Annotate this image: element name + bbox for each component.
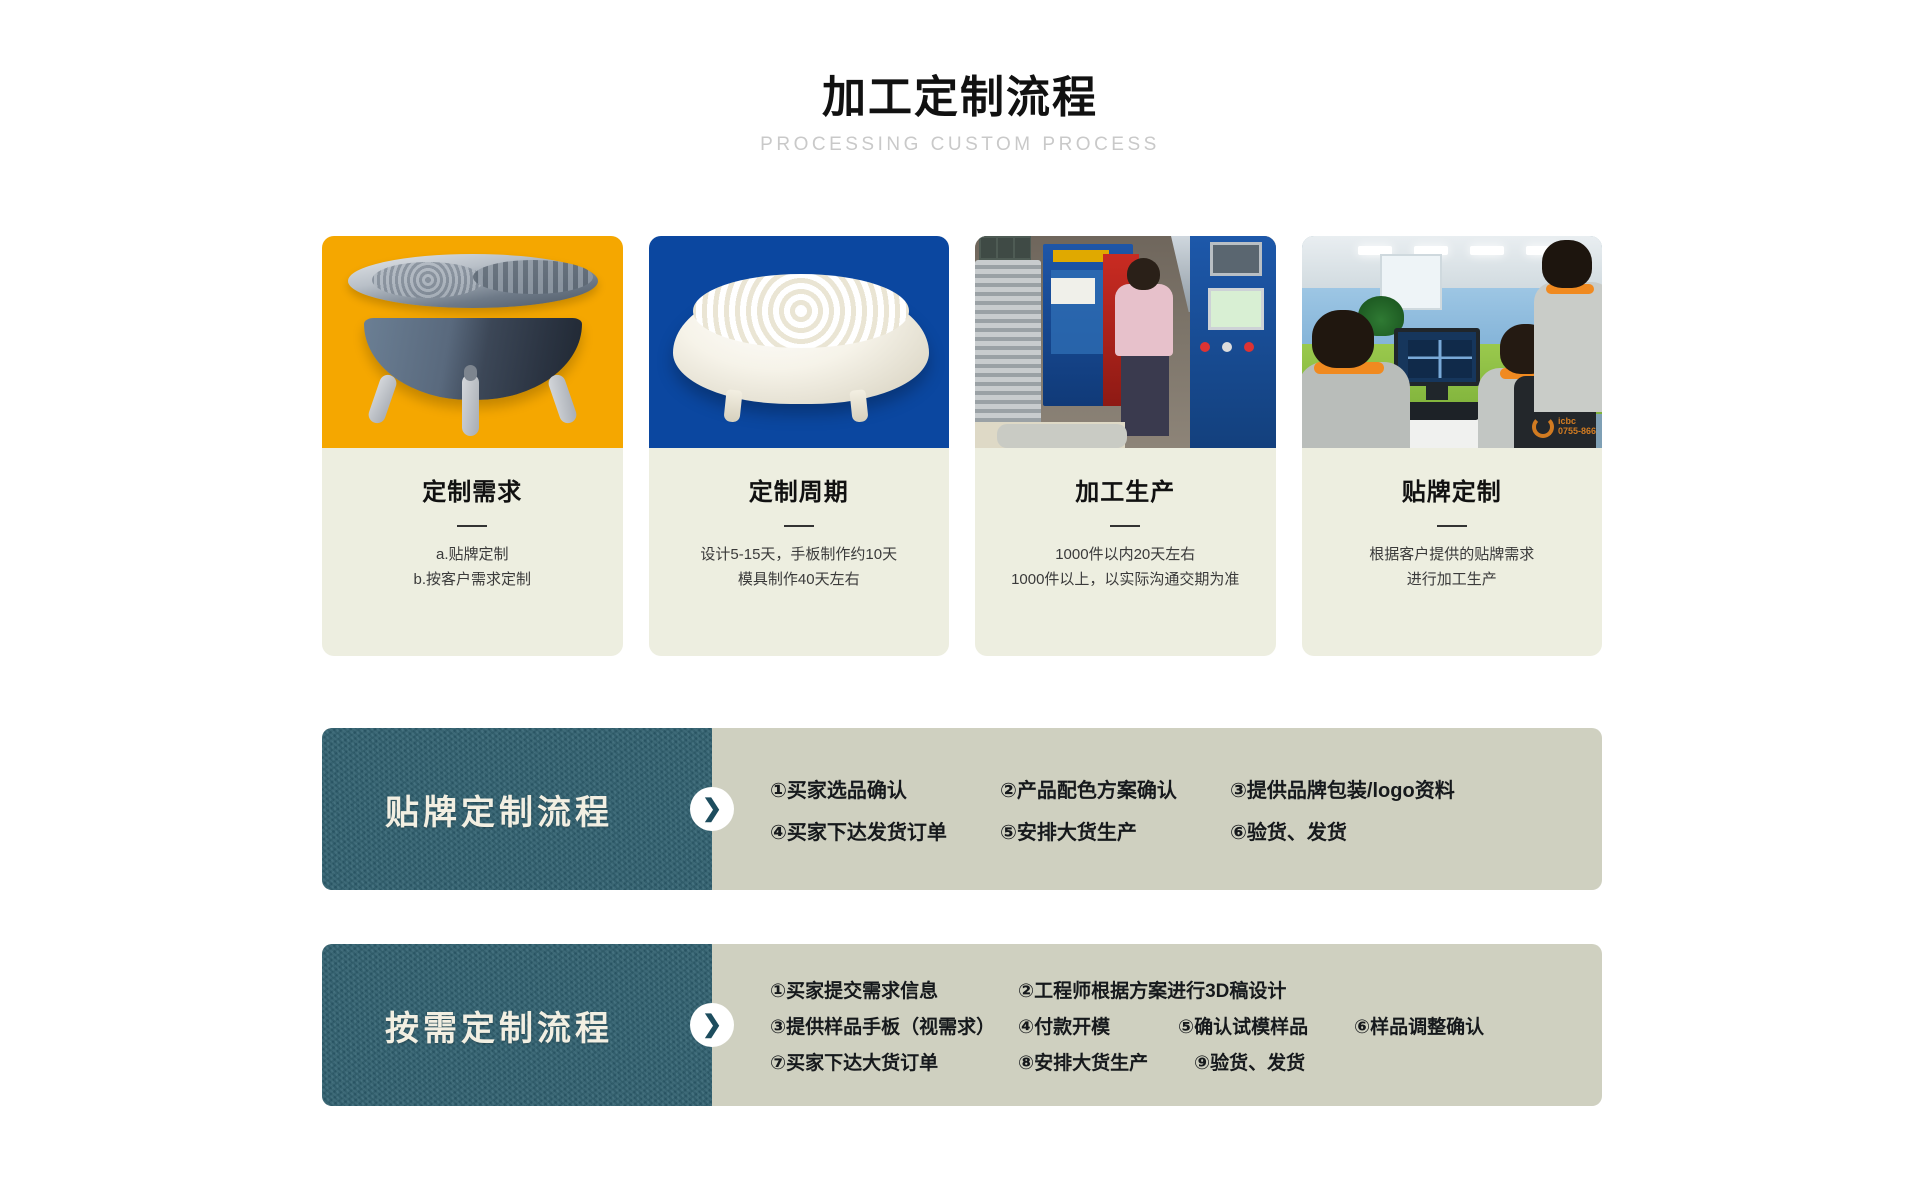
ondemand-process-banner: 按需定制流程 ❯ ①买家提交需求信息 ②工程师根据方案进行3D稿设计 ③提供样品… bbox=[322, 944, 1602, 1106]
card-description: 根据客户提供的贴牌需求 进行加工生产 bbox=[1369, 543, 1534, 593]
step-row: ①买家提交需求信息 ②工程师根据方案进行3D稿设计 bbox=[770, 971, 1602, 1007]
watermark-text: icbc 0755-866 bbox=[1558, 417, 1596, 437]
step-row: ①买家选品确认 ②产品配色方案确认 ③提供品牌包装/logo资料 bbox=[770, 767, 1602, 809]
chevron-right-icon[interactable]: ❯ bbox=[690, 1003, 734, 1047]
oem-process-banner: 贴牌定制流程 ❯ ①买家选品确认 ②产品配色方案确认 ③提供品牌包装/logo资… bbox=[322, 728, 1602, 890]
process-step: ②产品配色方案确认 bbox=[1000, 774, 1230, 803]
process-step: ⑨验货、发货 bbox=[1194, 1048, 1305, 1075]
process-step: ⑤安排大货生产 bbox=[1000, 816, 1230, 845]
banner-label: 贴牌定制流程 ❯ bbox=[322, 728, 712, 890]
card-divider bbox=[457, 525, 487, 527]
card-description: a.贴牌定制 b.按客户需求定制 bbox=[413, 543, 531, 593]
card-title: 定制需求 bbox=[422, 472, 522, 507]
banner-label-text: 贴牌定制流程 bbox=[385, 785, 613, 834]
exploded-product-render bbox=[322, 236, 623, 448]
card-body: 定制需求 a.贴牌定制 b.按客户需求定制 bbox=[322, 448, 623, 656]
page-header: 加工定制流程 PROCESSING CUSTOM PROCESS bbox=[0, 0, 1920, 156]
page-title: 加工定制流程 bbox=[0, 74, 1920, 122]
process-step: ⑧安排大货生产 bbox=[1018, 1048, 1194, 1075]
page-subtitle: PROCESSING CUSTOM PROCESS bbox=[0, 134, 1920, 156]
card-desc-line: 设计5-15天，手板制作约10天 bbox=[700, 543, 897, 568]
card-description: 设计5-15天，手板制作约10天 模具制作40天左右 bbox=[700, 543, 897, 593]
process-step: ③提供品牌包装/logo资料 bbox=[1230, 774, 1455, 803]
process-card[interactable]: 定制需求 a.贴牌定制 b.按客户需求定制 bbox=[322, 236, 623, 656]
page-root: 加工定制流程 PROCESSING CUSTOM PROCESS 定制需求 a.… bbox=[0, 0, 1920, 1200]
process-step: ①买家提交需求信息 bbox=[770, 976, 1018, 1003]
process-card[interactable]: 定制周期 设计5-15天，手板制作约10天 模具制作40天左右 bbox=[649, 236, 950, 656]
process-step: ④付款开模 bbox=[1018, 1012, 1178, 1039]
process-cards: 定制需求 a.贴牌定制 b.按客户需求定制 定制周期 设计5-15天，手板 bbox=[322, 236, 1602, 656]
step-row: ⑦买家下达大货订单 ⑧安排大货生产 ⑨验货、发货 bbox=[770, 1043, 1602, 1079]
card-desc-line: 根据客户提供的贴牌需求 bbox=[1369, 543, 1534, 568]
process-step: ③提供样品手板（视需求） bbox=[770, 1012, 1018, 1039]
card-desc-line: 进行加工生产 bbox=[1369, 568, 1534, 593]
watermark-phone: 0755-866 bbox=[1558, 427, 1596, 437]
card-title: 定制周期 bbox=[749, 472, 849, 507]
card-desc-line: 1000件以上，以实际沟通交期为准 bbox=[1011, 568, 1239, 593]
card-desc-line: 1000件以内20天左右 bbox=[1011, 543, 1239, 568]
card-body: 加工生产 1000件以内20天左右 1000件以上，以实际沟通交期为准 bbox=[975, 448, 1276, 656]
process-card[interactable]: icbc 0755-866 贴牌定制 根据客户提供的贴牌需求 进行加工生产 bbox=[1302, 236, 1603, 656]
banner-label-text: 按需定制流程 bbox=[385, 1001, 613, 1050]
process-step: ⑥样品调整确认 bbox=[1354, 1012, 1484, 1039]
step-row: ④买家下达发货订单 ⑤安排大货生产 ⑥验货、发货 bbox=[770, 809, 1602, 851]
card-divider bbox=[784, 525, 814, 527]
step-row: ③提供样品手板（视需求） ④付款开模 ⑤确认试模样品 ⑥样品调整确认 bbox=[770, 1007, 1602, 1043]
factory-production-photo bbox=[975, 236, 1276, 448]
card-title: 贴牌定制 bbox=[1402, 472, 1502, 507]
white-prototype-model bbox=[649, 236, 950, 448]
process-card[interactable]: 加工生产 1000件以内20天左右 1000件以上，以实际沟通交期为准 bbox=[975, 236, 1276, 656]
card-desc-line: a.贴牌定制 bbox=[413, 543, 531, 568]
banner-steps: ①买家提交需求信息 ②工程师根据方案进行3D稿设计 ③提供样品手板（视需求） ④… bbox=[712, 944, 1602, 1106]
process-step: ①买家选品确认 bbox=[770, 774, 1000, 803]
brand-watermark: icbc 0755-866 bbox=[1532, 416, 1596, 438]
process-step: ⑤确认试模样品 bbox=[1178, 1012, 1354, 1039]
card-divider bbox=[1110, 525, 1140, 527]
process-step: ④买家下达发货订单 bbox=[770, 816, 1000, 845]
process-step: ②工程师根据方案进行3D稿设计 bbox=[1018, 976, 1286, 1003]
banner-steps: ①买家选品确认 ②产品配色方案确认 ③提供品牌包装/logo资料 ④买家下达发货… bbox=[712, 728, 1602, 890]
card-divider bbox=[1437, 525, 1467, 527]
card-body: 定制周期 设计5-15天，手板制作约10天 模具制作40天左右 bbox=[649, 448, 950, 656]
brand-logo-icon bbox=[1532, 416, 1554, 438]
office-design-team-photo: icbc 0755-866 bbox=[1302, 236, 1603, 448]
banner-label: 按需定制流程 ❯ bbox=[322, 944, 712, 1106]
card-body: 贴牌定制 根据客户提供的贴牌需求 进行加工生产 bbox=[1302, 448, 1603, 656]
card-desc-line: 模具制作40天左右 bbox=[700, 568, 897, 593]
process-step: ⑦买家下达大货订单 bbox=[770, 1048, 1018, 1075]
card-title: 加工生产 bbox=[1075, 472, 1175, 507]
card-description: 1000件以内20天左右 1000件以上，以实际沟通交期为准 bbox=[1011, 543, 1239, 593]
card-desc-line: b.按客户需求定制 bbox=[413, 568, 531, 593]
process-step: ⑥验货、发货 bbox=[1230, 816, 1347, 845]
chevron-right-icon[interactable]: ❯ bbox=[690, 787, 734, 831]
